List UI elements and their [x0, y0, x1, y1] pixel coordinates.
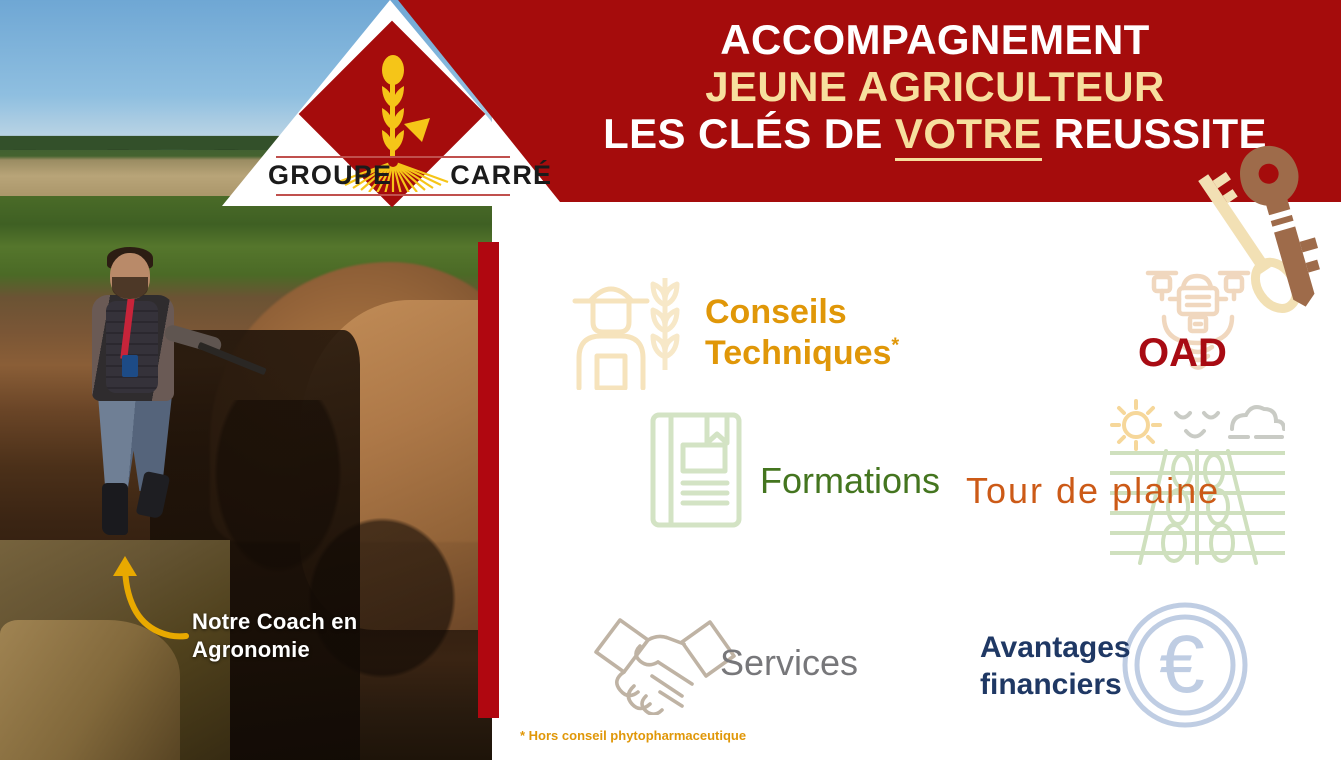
benefit-label-conseils-techniques: Conseils Techniques*: [705, 292, 899, 375]
photo-person-figure: [78, 245, 198, 505]
benefit-item-formations[interactable]: Formations: [590, 405, 990, 555]
logo-word-groupe: GROUPE: [268, 160, 392, 190]
benefit-text: Conseils Techniques: [705, 293, 891, 372]
photo-caption: Notre Coach en Agronomie: [192, 608, 442, 664]
benefits-grid: Conseils Techniques*: [510, 215, 1341, 715]
photo-accent-bar: [478, 242, 499, 718]
benefit-asterisk: *: [891, 335, 899, 357]
headline-emphasis-votre: VOTRE: [895, 110, 1042, 161]
farmer-with-hat-icon: [565, 270, 695, 390]
benefit-item-oad[interactable]: OAD: [1070, 235, 1330, 385]
headline-line-3-prefix: LES CLÉS DE: [603, 110, 895, 157]
logo-rule-top: [276, 156, 510, 158]
benefit-label-avantages-financiers: Avantages financiers: [980, 630, 1131, 703]
book-with-bookmark-icon: [645, 405, 755, 535]
footnote-text: * Hors conseil phytopharmaceutique: [520, 728, 746, 743]
benefit-label-tour-de-plaine: Tour de plaine: [966, 470, 1220, 512]
logo-word-carre: CARRÉ: [450, 160, 552, 190]
benefit-item-tour-de-plaine[interactable]: Tour de plaine: [950, 395, 1340, 565]
handshake-icon: [590, 600, 740, 715]
svg-text:€: €: [1159, 619, 1205, 710]
brand-logo[interactable]: GROUPECARRÉ: [268, 48, 518, 198]
headline-line-2: JEUNE AGRICULTEUR: [540, 63, 1330, 110]
benefit-item-avantages-financiers[interactable]: € Avantages financiers: [980, 600, 1341, 750]
benefit-item-services[interactable]: Services: [560, 600, 960, 730]
slide-canvas: Notre Coach en Agronomie ACCOMPAGNEMENT …: [0, 0, 1341, 760]
logo-wordmark: GROUPECARRÉ: [268, 160, 518, 191]
headline-line-1: ACCOMPAGNEMENT: [540, 16, 1330, 63]
curved-up-arrow-icon: [112, 552, 190, 642]
euro-coin-icon: €: [1120, 600, 1250, 730]
photo-cast-shadows: [200, 400, 460, 760]
benefit-label-services: Services: [720, 642, 858, 684]
logo-rule-bottom: [276, 194, 510, 196]
benefit-label-oad: OAD: [1138, 331, 1227, 376]
benefit-item-conseils-techniques[interactable]: Conseils Techniques*: [565, 245, 965, 385]
benefit-label-formations: Formations: [760, 460, 940, 502]
